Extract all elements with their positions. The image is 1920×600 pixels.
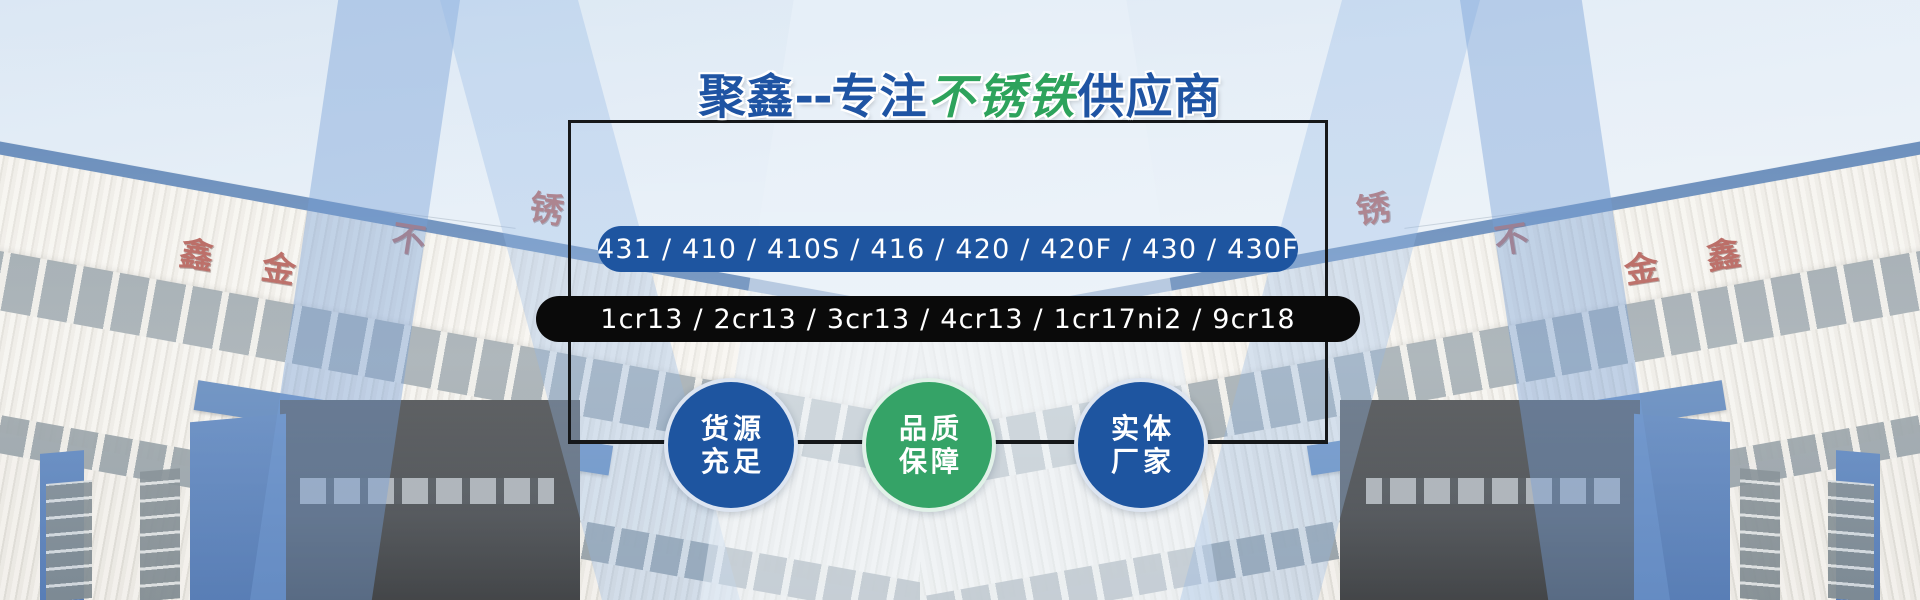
headline-focus: 专注 <box>832 70 928 125</box>
ground-window <box>140 468 180 600</box>
feature-line-2: 充足 <box>697 445 765 478</box>
feature-line-1: 品质 <box>895 412 963 445</box>
headline-supplier: 供应商 <box>1078 70 1222 125</box>
feature-line-2: 保障 <box>895 445 963 478</box>
ground-window <box>1828 480 1874 600</box>
building-sign-char: 锈 <box>526 180 567 234</box>
building-sign-char: 锈 <box>1352 180 1393 234</box>
feature-circle-factory: 实体 厂家 <box>1074 378 1208 512</box>
factory-doorway <box>1340 400 1640 600</box>
headline-dash: -- <box>794 70 831 125</box>
headline-material: 不锈铁 <box>928 70 1078 125</box>
ground-window <box>1740 468 1780 600</box>
feature-line-2: 厂家 <box>1107 445 1175 478</box>
feature-line-1: 货源 <box>697 412 765 445</box>
blue-door-panel <box>1634 414 1730 600</box>
factory-doorway <box>280 400 580 600</box>
connector-line <box>568 441 668 444</box>
connector-line <box>1196 441 1328 444</box>
ground-window <box>46 480 92 600</box>
codes-bar-text: 1cr13 / 2cr13 / 3cr13 / 4cr13 / 1cr17ni2… <box>600 304 1296 335</box>
feature-line-1: 实体 <box>1107 412 1175 445</box>
feature-circle-supply: 货源 充足 <box>664 378 798 512</box>
grades-bar: 431 / 410 / 410S / 416 / 420 / 420F / 43… <box>598 226 1298 272</box>
grades-bar-text: 431 / 410 / 410S / 416 / 420 / 420F / 43… <box>597 234 1299 265</box>
promo-banner: 鑫 金 不 锈 鑫 金 不 锈 <box>0 0 1920 600</box>
feature-circle-quality: 品质 保障 <box>862 378 996 512</box>
connector-line <box>988 441 1080 444</box>
headline: 聚鑫--专注不锈铁供应商 <box>0 74 1920 121</box>
blue-door-panel <box>190 414 286 600</box>
codes-bar: 1cr13 / 2cr13 / 3cr13 / 4cr13 / 1cr17ni2… <box>536 296 1360 342</box>
headline-brand: 聚鑫 <box>698 70 794 125</box>
